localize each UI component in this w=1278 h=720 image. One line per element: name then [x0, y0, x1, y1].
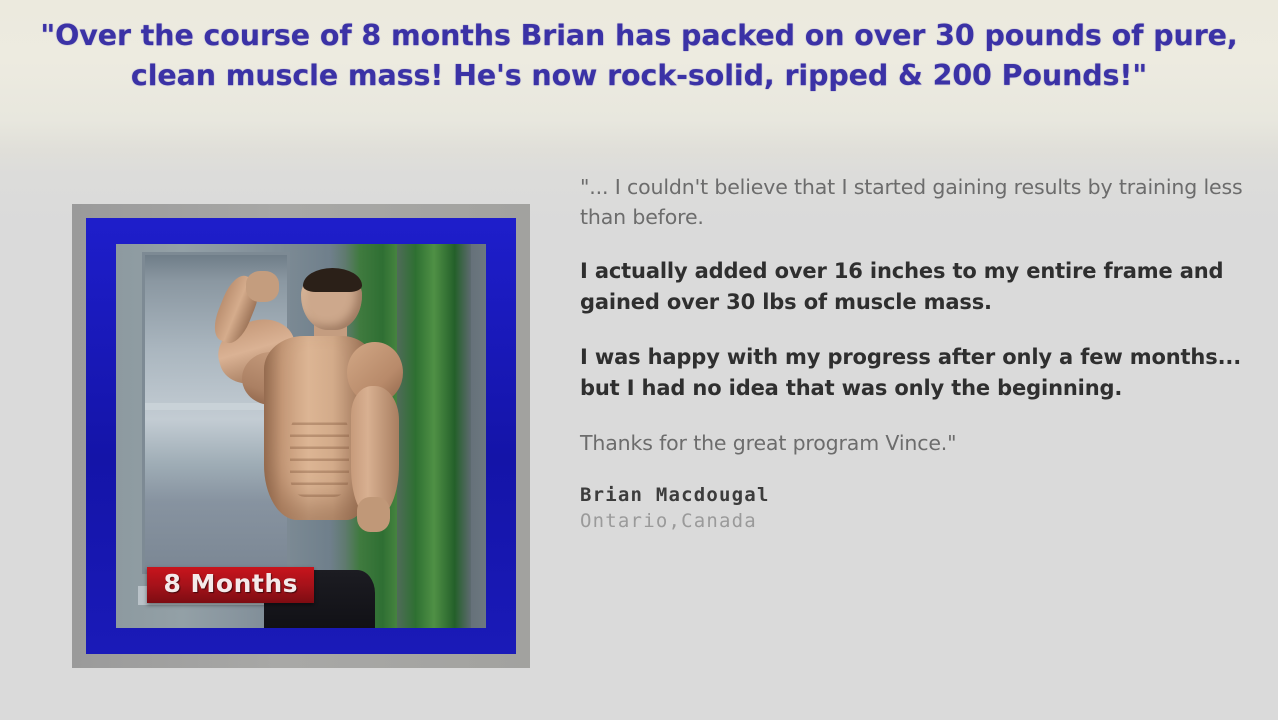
testimonial-paragraph-3: I was happy with my progress after only … — [580, 342, 1248, 404]
testimonial-block: "... I couldn't believe that I started g… — [580, 172, 1248, 534]
testimonial-page: "Over the course of 8 months Brian has p… — [0, 0, 1278, 720]
photo-green-doorframe — [397, 244, 471, 628]
signature-location: Ontario,Canada — [580, 508, 1248, 534]
figure-abs — [290, 413, 349, 497]
signature-name: Brian Macdougal — [580, 482, 1248, 508]
photo-frame-blue: 8 Months — [86, 218, 516, 654]
figure-left-fist — [246, 271, 279, 302]
testimonial-signature: Brian Macdougal Ontario,Canada — [580, 482, 1248, 534]
figure-right-hand — [357, 497, 390, 532]
testimonial-paragraph-1: "... I couldn't believe that I started g… — [580, 172, 1248, 232]
testimonial-paragraph-2: I actually added over 16 inches to my en… — [580, 256, 1248, 318]
photo-frame-outer: 8 Months — [72, 204, 530, 668]
transformation-photo: 8 Months — [116, 244, 486, 628]
page-headline: "Over the course of 8 months Brian has p… — [26, 16, 1252, 96]
duration-badge: 8 Months — [147, 567, 314, 603]
testimonial-paragraph-4: Thanks for the great program Vince." — [580, 428, 1248, 458]
